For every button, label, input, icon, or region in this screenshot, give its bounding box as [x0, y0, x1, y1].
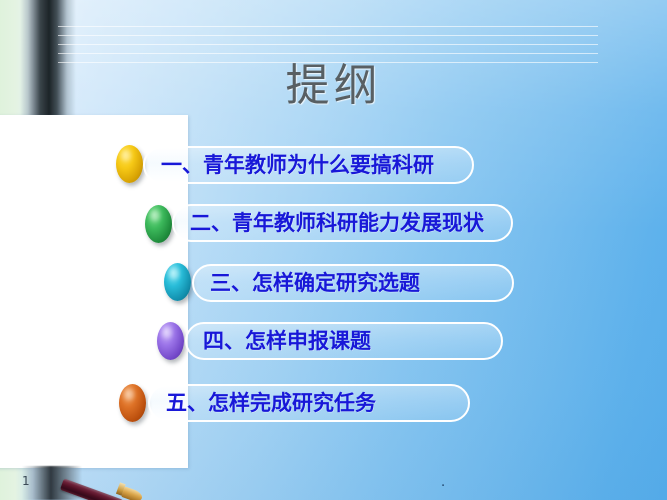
- outline-item-label: 三、怎样确定研究选题: [210, 264, 420, 302]
- bullet-ellipse-orange: [119, 384, 146, 422]
- bullet-ellipse-purple: [157, 322, 184, 360]
- bullet-ellipse-gold: [116, 145, 143, 183]
- bullet-ellipse-green: [145, 205, 172, 243]
- outline-item-label: 一、青年教师为什么要搞科研: [161, 146, 434, 184]
- outline-item-label: 四、怎样申报课题: [203, 322, 371, 360]
- presentation-slide: 提纲 一、青年教师为什么要搞科研 二、青年教师科研能力发展现状 三、怎样确定研究…: [0, 0, 667, 500]
- outline-item-label: 二、青年教师科研能力发展现状: [190, 204, 484, 242]
- outline-list: 一、青年教师为什么要搞科研 二、青年教师科研能力发展现状 三、怎样确定研究选题 …: [0, 0, 667, 500]
- outline-item-label: 五、怎样完成研究任务: [166, 384, 376, 422]
- footer-dot-mark: .: [441, 480, 445, 486]
- page-number: 1: [22, 474, 30, 488]
- bullet-ellipse-teal: [164, 263, 191, 301]
